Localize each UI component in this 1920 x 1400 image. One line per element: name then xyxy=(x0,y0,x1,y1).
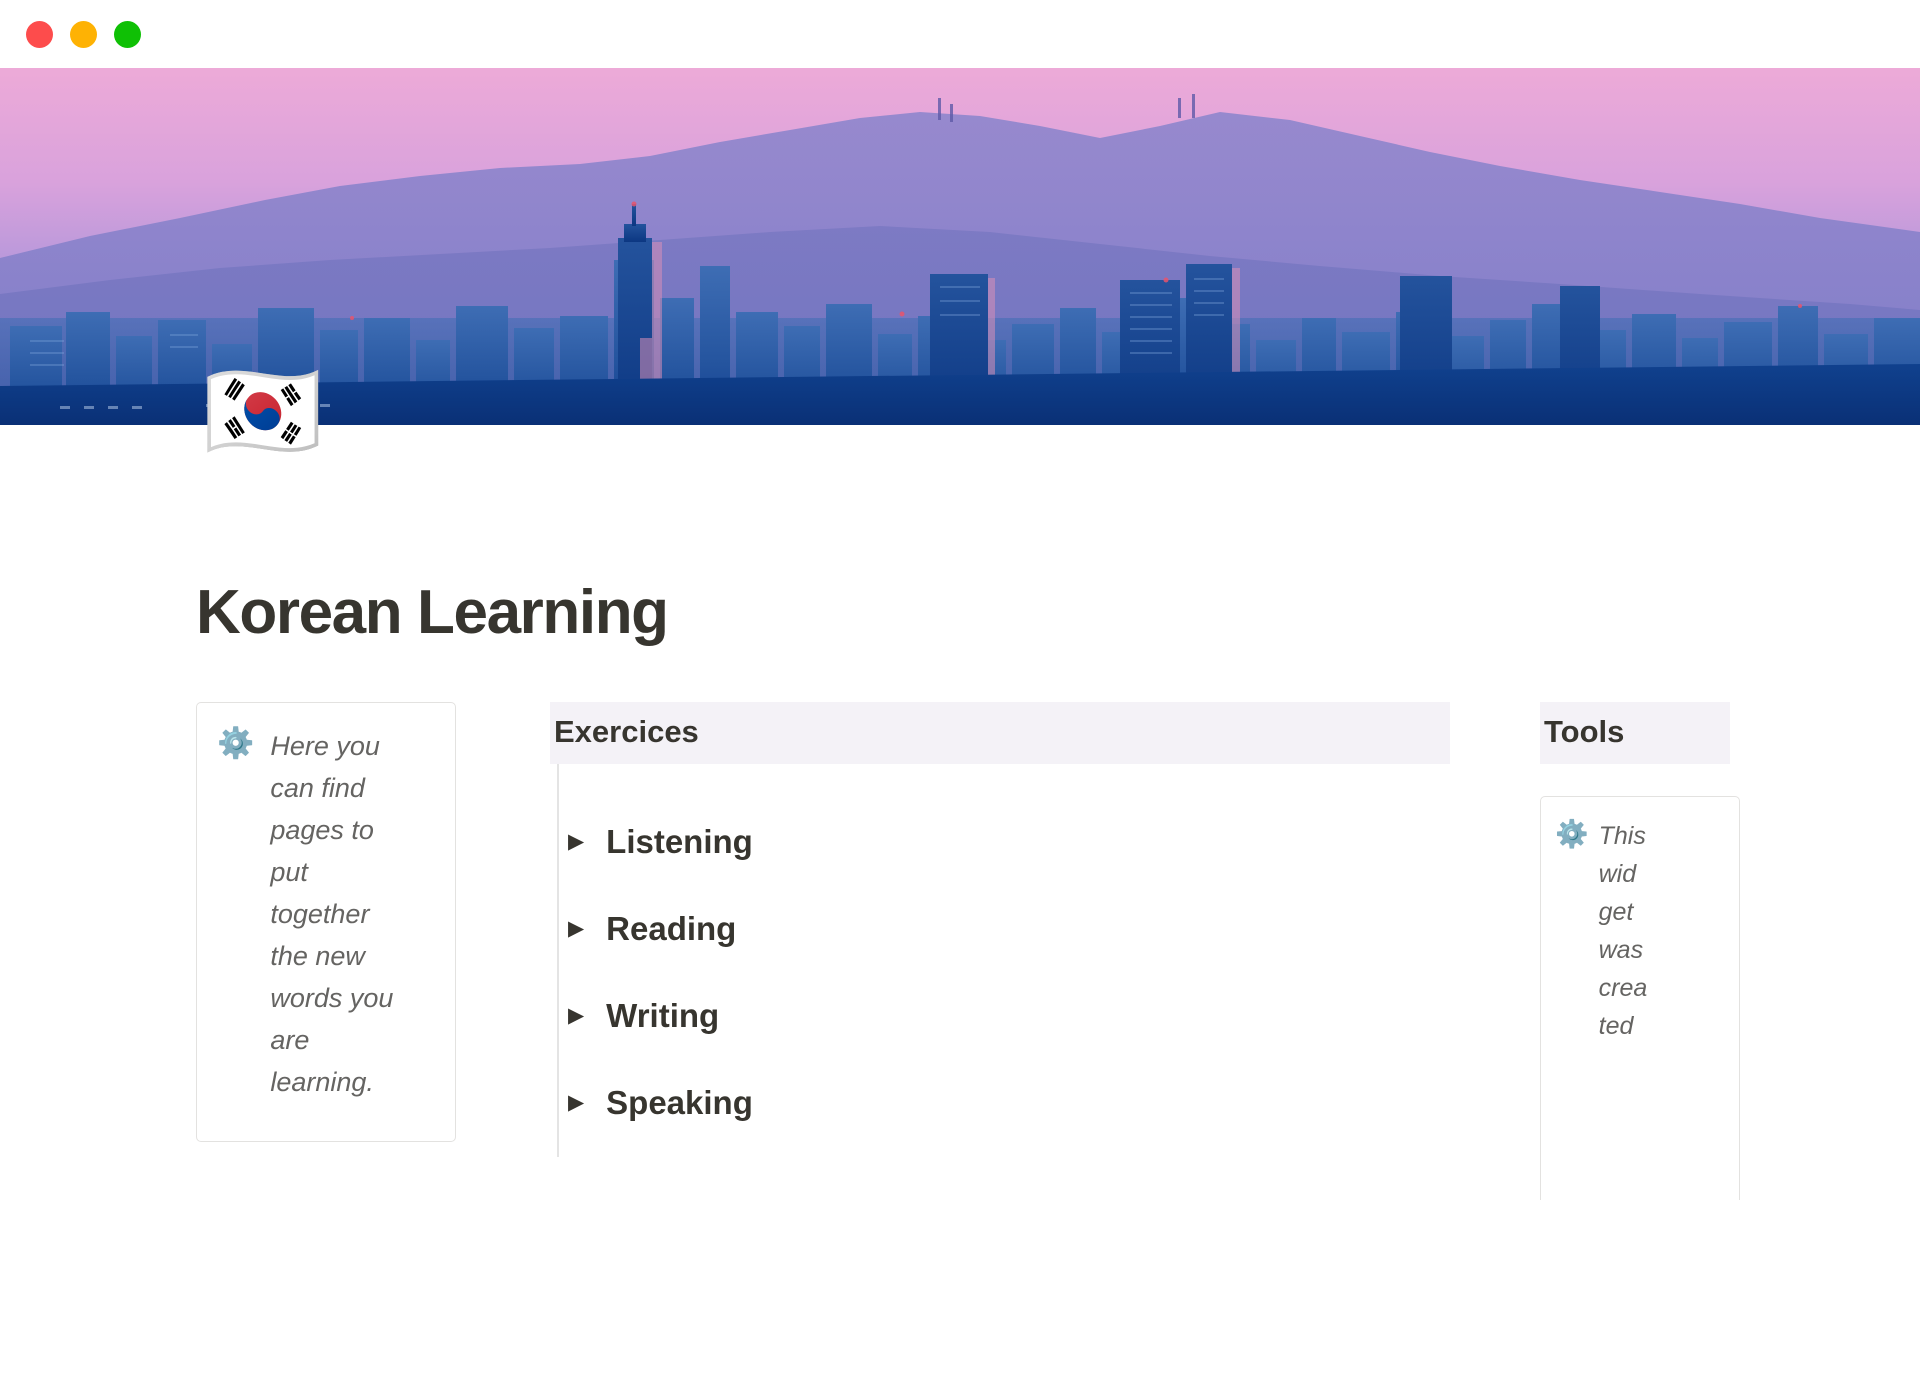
window-title-bar xyxy=(0,0,1920,68)
toggle-item-listening[interactable]: ▶ Listening xyxy=(550,798,1460,885)
callout-text: This widget was created xyxy=(1599,817,1649,1045)
traffic-light-group xyxy=(26,21,141,48)
page-icon-korean-flag[interactable]: 🇰🇷 xyxy=(203,362,343,462)
gear-icon: ⚙️ xyxy=(1555,817,1589,851)
column-right: Tools ⚙️ This widget was created xyxy=(1540,702,1740,1216)
page-title[interactable]: Korean Learning xyxy=(196,577,668,648)
toggle-item-writing[interactable]: ▶ Writing xyxy=(550,972,1460,1059)
column-left: ⚙️ Here you can find pages to put togeth… xyxy=(196,702,456,1142)
column-list: ⚙️ Here you can find pages to put togeth… xyxy=(0,702,1920,1200)
minimize-window-button[interactable] xyxy=(70,21,97,48)
section-title-text: Exercices xyxy=(550,714,1450,750)
toggle-label[interactable]: Speaking xyxy=(606,1084,753,1122)
chevron-right-icon[interactable]: ▶ xyxy=(568,1092,584,1113)
gear-icon: ⚙️ xyxy=(217,725,254,763)
toggle-item-reading[interactable]: ▶ Reading xyxy=(550,885,1460,972)
callout-text: Here you can find pages to put together … xyxy=(270,725,410,1103)
close-window-button[interactable] xyxy=(26,21,53,48)
toggle-item-speaking[interactable]: ▶ Speaking xyxy=(550,1059,1460,1146)
section-title-text: Tools xyxy=(1540,714,1730,750)
toggle-label[interactable]: Reading xyxy=(606,910,736,948)
column-middle: Exercices ▶ Listening ▶ Reading ▶ Writin… xyxy=(550,702,1460,1146)
section-header-tools[interactable]: Tools xyxy=(1540,702,1730,764)
chevron-right-icon[interactable]: ▶ xyxy=(568,1005,584,1026)
callout-block-widget[interactable]: ⚙️ This widget was created xyxy=(1540,796,1740,1216)
tools-callout-wrapper: ⚙️ This widget was created xyxy=(1540,796,1740,1216)
section-header-exercices[interactable]: Exercices xyxy=(550,702,1450,764)
chevron-right-icon[interactable]: ▶ xyxy=(568,831,584,852)
toggle-label[interactable]: Writing xyxy=(606,997,719,1035)
toggle-label[interactable]: Listening xyxy=(606,823,753,861)
maximize-window-button[interactable] xyxy=(114,21,141,48)
callout-block-notes[interactable]: ⚙️ Here you can find pages to put togeth… xyxy=(196,702,456,1142)
chevron-right-icon[interactable]: ▶ xyxy=(568,918,584,939)
viewport-bottom-clip xyxy=(0,1200,1920,1400)
page-content: Korean Learning ⚙️ Here you can find pag… xyxy=(0,425,1920,1200)
exercices-toggle-list: ▶ Listening ▶ Reading ▶ Writing ▶ Speaki… xyxy=(550,798,1460,1146)
